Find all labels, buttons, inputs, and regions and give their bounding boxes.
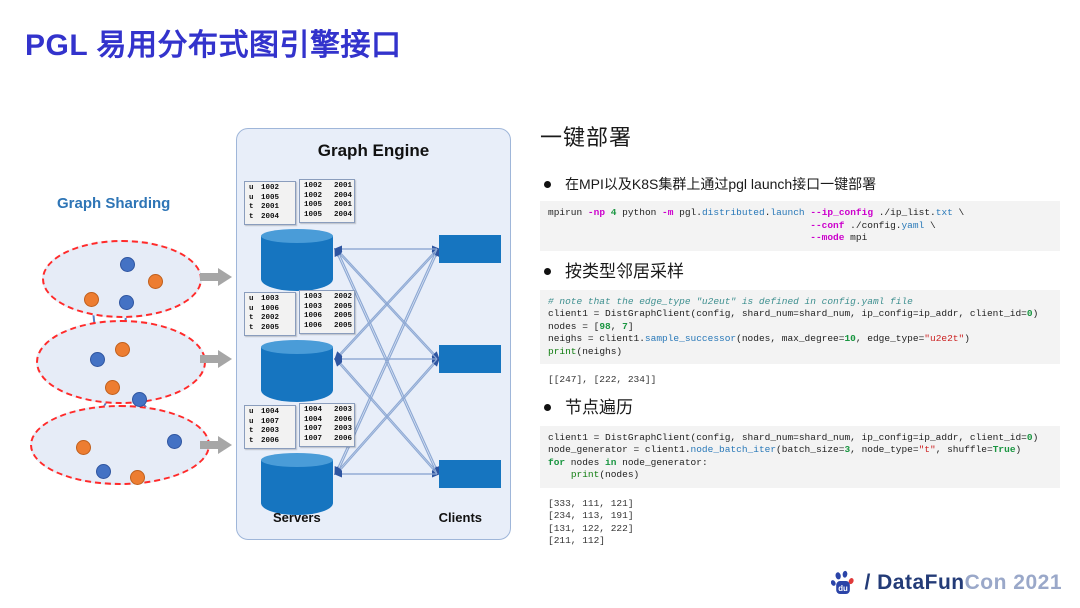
footer-separator: / xyxy=(864,571,870,594)
shard-node-table: u1002u1005t2001t2004 xyxy=(244,181,296,225)
graph-node xyxy=(119,295,134,310)
graph-node xyxy=(90,352,105,367)
shard-to-server-arrow xyxy=(200,350,232,368)
section-heading: 一键部署 xyxy=(540,120,1060,152)
content-column: 一键部署 在MPI以及K8S集群上通过pgl launch接口一键部署 mpir… xyxy=(540,120,1060,558)
bullet-item: 按类型邻居采样 xyxy=(540,261,1060,283)
shard-to-server-arrow xyxy=(200,436,232,454)
clients-label: Clients xyxy=(439,510,482,525)
shard-node-table: u1003u1006t2002t2005 xyxy=(244,292,296,336)
shard-cluster-3 xyxy=(30,405,210,485)
bullet-dot-icon xyxy=(544,268,551,275)
client-box xyxy=(439,235,501,263)
graph-node xyxy=(132,392,147,407)
code-block: client1 = DistGraphClient(config, shard_… xyxy=(540,426,1060,488)
shard-cluster-2 xyxy=(36,320,206,404)
footer-brand-light: Con 2021 xyxy=(965,571,1062,594)
baidu-paw-logo: du xyxy=(831,570,857,596)
bullet-dot-icon xyxy=(544,181,551,188)
conference-brand: / DataFunCon 2021 xyxy=(864,571,1062,595)
shard-to-server-arrow xyxy=(200,268,232,286)
graph-node xyxy=(76,440,91,455)
server-cylinder xyxy=(261,236,333,291)
bullet-label: 在MPI以及K8S集群上通过pgl launch接口一键部署 xyxy=(565,174,876,194)
bullet-item: 节点遍历 xyxy=(540,397,1060,419)
shard-node-table: u1004u1007t2003t2006 xyxy=(244,405,296,449)
servers-label: Servers xyxy=(273,510,321,525)
server-cylinder xyxy=(261,347,333,402)
shard-edge-table: 10042003100420061007200310072006 xyxy=(299,403,355,447)
graph-node xyxy=(120,257,135,272)
bullet-item: 在MPI以及K8S集群上通过pgl launch接口一键部署 xyxy=(540,174,1060,194)
code-output: [333, 111, 121] [234, 113, 191] [131, 12… xyxy=(548,498,1060,548)
footer-brand-dark: DataFun xyxy=(877,571,965,594)
server-cylinder xyxy=(261,460,333,515)
bullet-dot-icon xyxy=(544,404,551,411)
graph-node xyxy=(148,274,163,289)
architecture-diagram: Graph Sharding xyxy=(0,110,530,550)
graph-sharding-label: Graph Sharding xyxy=(57,195,170,212)
baidu-logo-text: du xyxy=(839,584,849,593)
graph-engine-panel: Graph Engine xyxy=(236,128,511,540)
bullet-label: 节点遍历 xyxy=(565,397,633,419)
code-output: [[247], [222, 234]] xyxy=(548,374,1060,387)
graph-node xyxy=(96,464,111,479)
client-box xyxy=(439,345,501,373)
graph-node xyxy=(130,470,145,485)
graph-node xyxy=(167,434,182,449)
client-box xyxy=(439,460,501,488)
code-block: # note that the edge_type "u2eut" is def… xyxy=(540,290,1060,365)
page-title: PGL 易用分布式图引擎接口 xyxy=(25,20,401,64)
graph-node xyxy=(84,292,99,307)
shard-edge-table: 10032002100320051006200510062005 xyxy=(299,290,355,334)
bullet-label: 按类型邻居采样 xyxy=(565,261,684,283)
shard-edge-table: 10022001100220041005200110052004 xyxy=(299,179,355,223)
code-block: mpirun -np 4 python -m pgl.distributed.l… xyxy=(540,201,1060,251)
footer-branding: du / DataFunCon 2021 xyxy=(831,570,1062,596)
graph-node xyxy=(115,342,130,357)
graph-node xyxy=(105,380,120,395)
